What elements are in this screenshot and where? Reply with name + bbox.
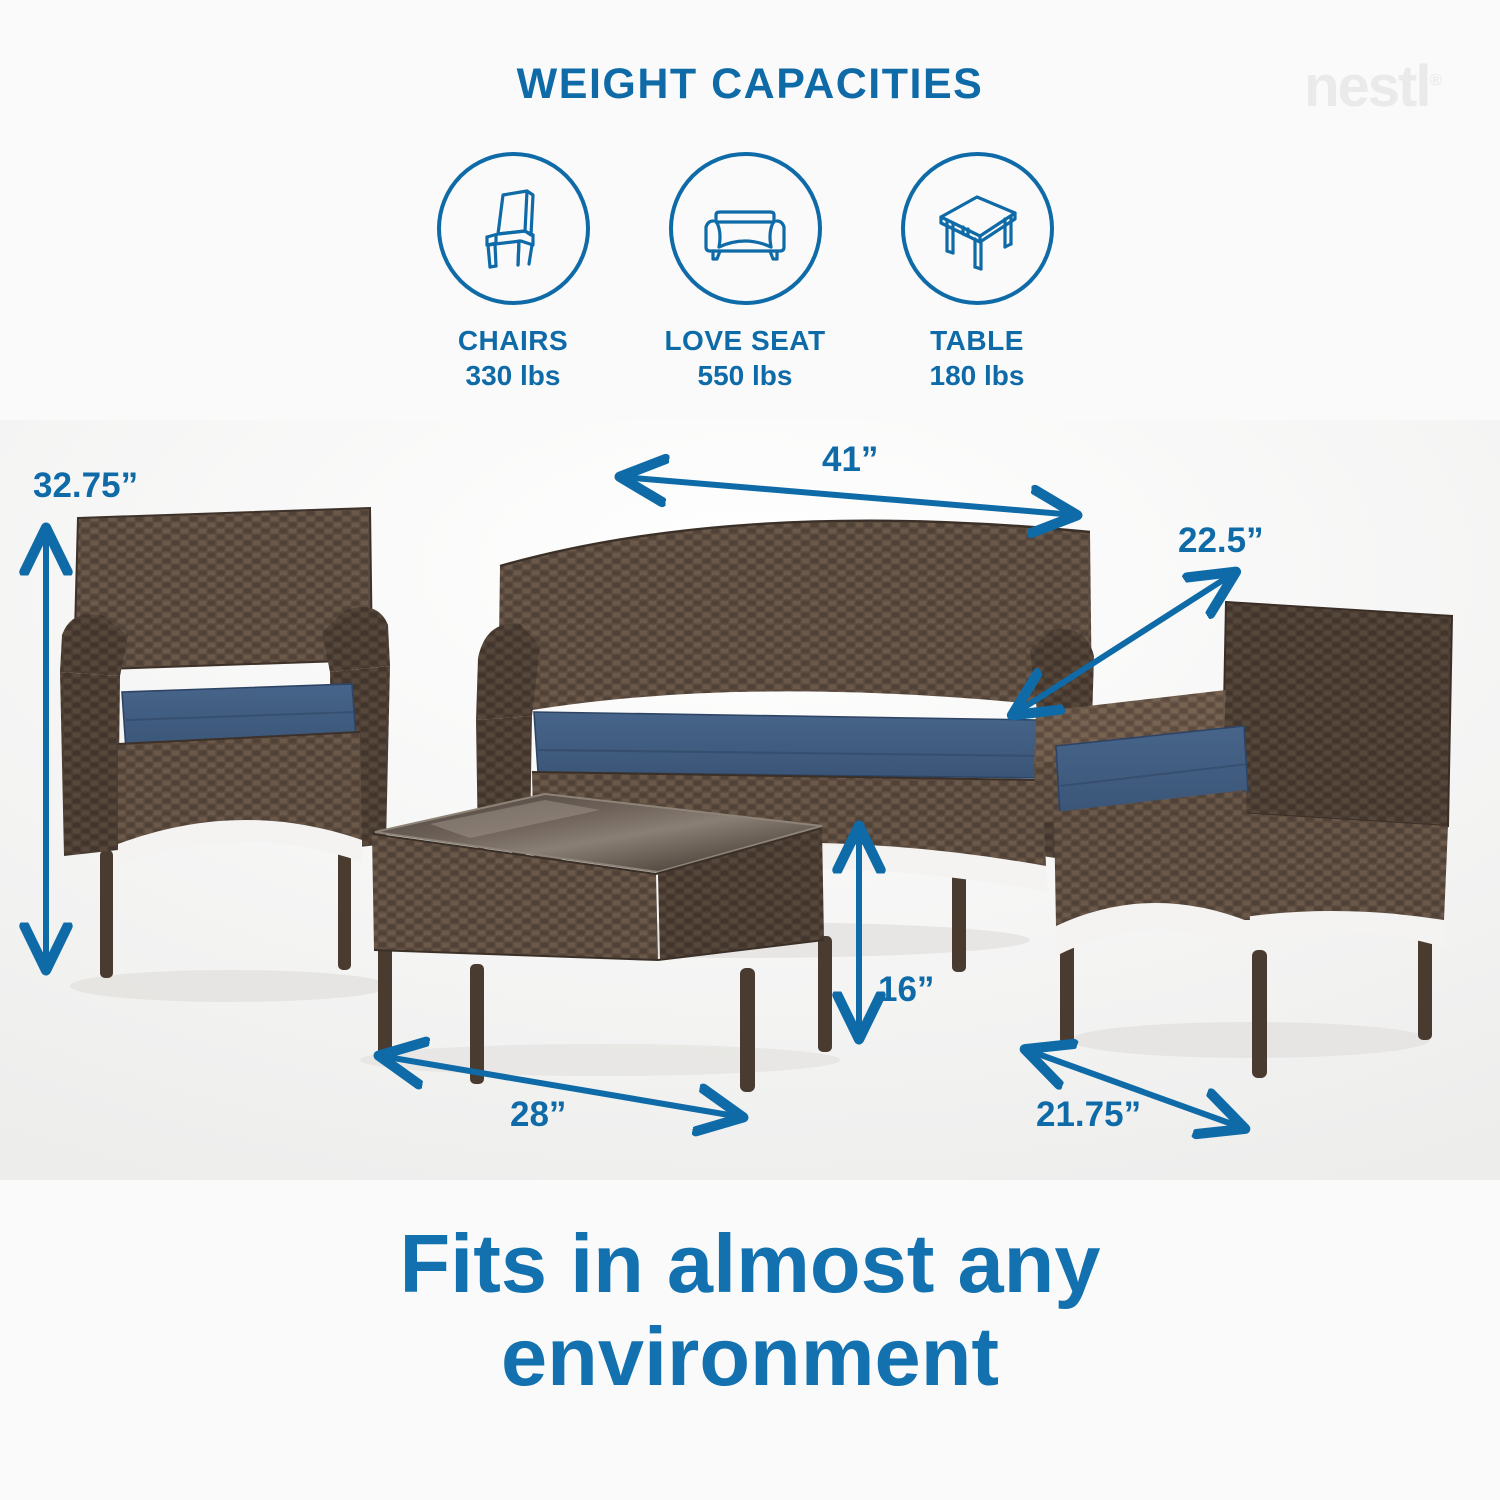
dimension-label-table-width: 28” — [510, 1095, 566, 1135]
capacity-label-chairs: CHAIRS — [398, 325, 628, 357]
capacity-value-table: 180 lbs — [862, 360, 1092, 392]
footer-headline-line2: environment — [0, 1311, 1500, 1404]
capacity-value-loveseat: 550 lbs — [630, 360, 860, 392]
chair-icon — [463, 179, 563, 279]
infographic-canvas: WEIGHT CAPACITIES nestl® CHAIR — [0, 0, 1500, 1500]
trademark-symbol: ® — [1429, 71, 1442, 90]
dimension-label-chair-height: 32.75” — [33, 466, 138, 506]
table-icon — [927, 179, 1027, 279]
dimension-label-chair-width: 21.75” — [1036, 1095, 1141, 1135]
capacity-item-chairs: CHAIRS 330 lbs — [398, 152, 628, 392]
loveseat-icon — [691, 179, 799, 279]
page-title: WEIGHT CAPACITIES — [0, 60, 1500, 109]
capacity-item-loveseat: LOVE SEAT 550 lbs — [630, 152, 860, 392]
brand-logo: nestl® — [1304, 58, 1442, 116]
dimension-label-chair-depth: 22.5” — [1178, 521, 1264, 561]
capacity-ring-table — [901, 152, 1054, 305]
dimension-label-loveseat-width: 41” — [822, 440, 878, 480]
dimension-label-table-height: 16” — [878, 970, 934, 1010]
capacity-ring-loveseat — [669, 152, 822, 305]
capacity-value-chairs: 330 lbs — [398, 360, 628, 392]
capacity-ring-chairs — [437, 152, 590, 305]
footer-headline: Fits in almost any environment — [0, 1218, 1500, 1404]
capacity-label-loveseat: LOVE SEAT — [630, 325, 860, 357]
brand-logo-text: nestl — [1304, 54, 1429, 119]
footer-headline-line1: Fits in almost any — [0, 1218, 1500, 1311]
capacity-item-table: TABLE 180 lbs — [862, 152, 1092, 392]
capacity-label-table: TABLE — [862, 325, 1092, 357]
product-photo — [0, 420, 1500, 1180]
weight-capacity-group: CHAIRS 330 lbs LOVE — [398, 152, 1098, 402]
